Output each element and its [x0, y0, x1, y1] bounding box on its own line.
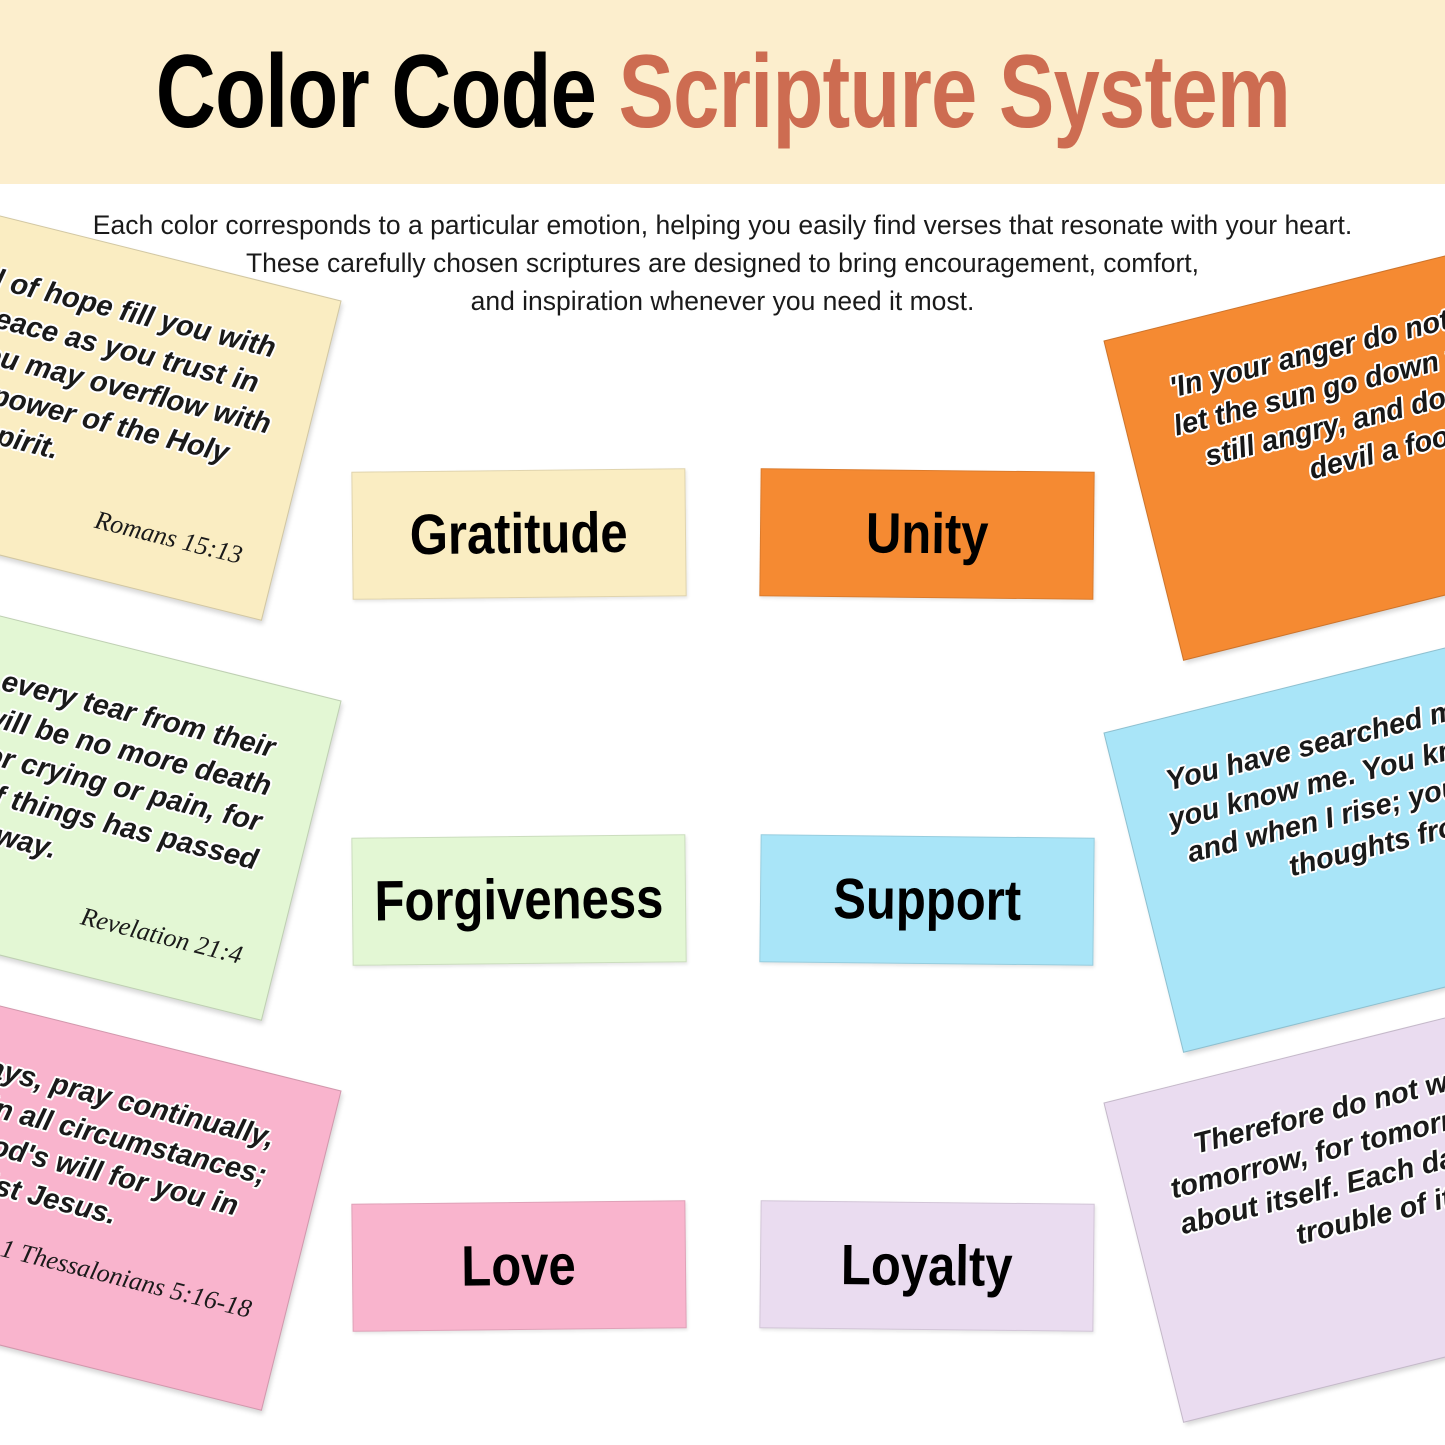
- swatch-gratitude[interactable]: Gratitude: [351, 468, 686, 599]
- swatch-label: Gratitude: [410, 504, 628, 563]
- swatch-unity[interactable]: Unity: [759, 468, 1094, 599]
- swatch-row-3: Love Loyalty: [0, 1202, 1445, 1445]
- swatch-loyalty[interactable]: Loyalty: [759, 1200, 1094, 1331]
- swatch-label: Love: [461, 1237, 576, 1295]
- page-title-primary: Color Code: [155, 34, 595, 150]
- swatch-label: Loyalty: [841, 1237, 1013, 1296]
- subtitle-line-1: Each color corresponds to a particular e…: [0, 206, 1445, 244]
- page-title-accent: Scripture System: [618, 34, 1290, 150]
- swatch-label: Forgiveness: [374, 870, 663, 930]
- swatch-label: Unity: [865, 505, 988, 563]
- swatch-row-2: Forgiveness Support: [0, 836, 1445, 1202]
- swatch-row-1: Gratitude Unity: [0, 470, 1445, 836]
- header-band: Color Code Scripture System: [0, 0, 1445, 184]
- swatch-grid: Gratitude Unity Forgiveness Support Love…: [0, 470, 1445, 1445]
- swatch-forgiveness[interactable]: Forgiveness: [351, 834, 686, 965]
- swatch-support[interactable]: Support: [759, 834, 1094, 965]
- swatch-love[interactable]: Love: [351, 1200, 686, 1331]
- page-title: Color Code Scripture System: [155, 40, 1289, 144]
- poster-canvas: Color Code Scripture System Each color c…: [0, 0, 1445, 1445]
- swatch-label: Support: [833, 871, 1021, 930]
